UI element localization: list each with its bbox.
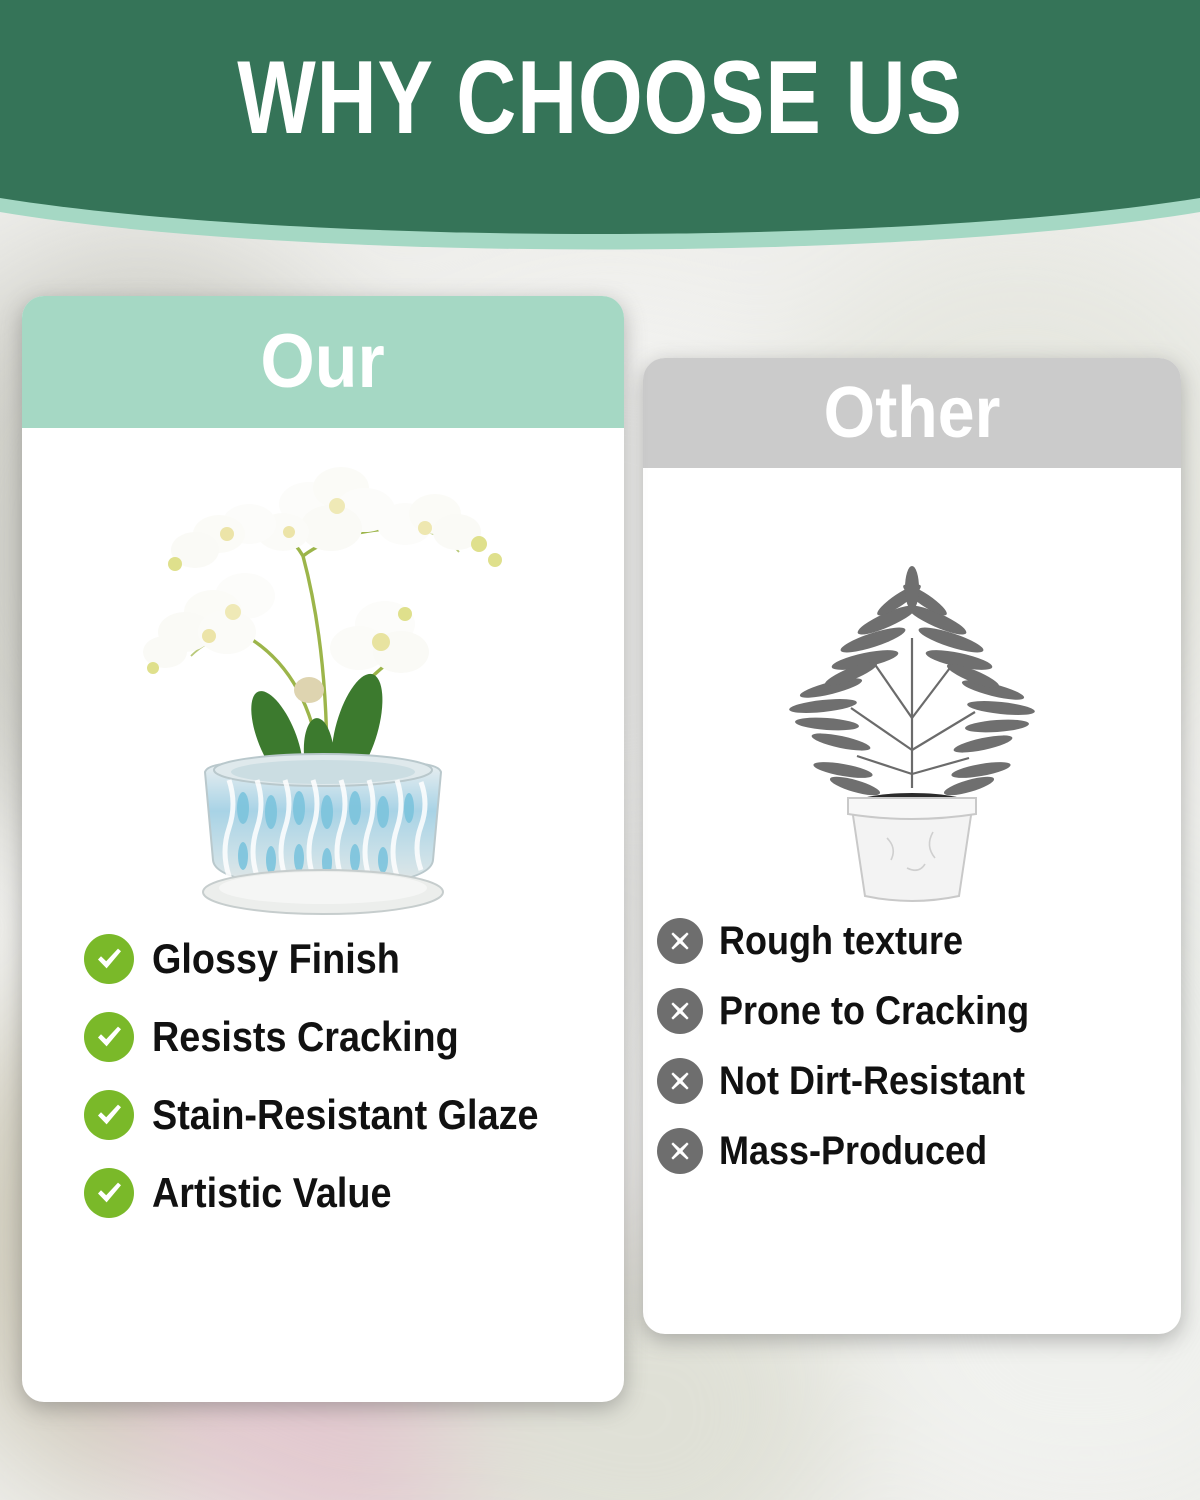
card-header-our-label: Our <box>261 324 385 400</box>
cross-circle-icon <box>657 918 703 964</box>
check-circle-icon <box>84 1168 134 1218</box>
list-item: Rough texture <box>657 918 1181 964</box>
list-item: Glossy Finish <box>84 934 624 984</box>
product-image-our <box>22 428 624 928</box>
header-banner: WHY CHOOSE US <box>0 0 1200 262</box>
feature-label: Prone to Cracking <box>719 990 1029 1032</box>
feature-list-other: Rough texture Prone to Cracking Not Dirt… <box>643 918 1181 1174</box>
product-image-other <box>643 468 1181 908</box>
list-item: Prone to Cracking <box>657 988 1181 1034</box>
feature-label: Rough texture <box>719 920 963 962</box>
check-circle-icon <box>84 934 134 984</box>
feature-label: Stain-Resistant Glaze <box>152 1093 539 1137</box>
check-circle-icon <box>84 1090 134 1140</box>
page-title: WHY CHOOSE US <box>120 46 1080 150</box>
feature-label: Mass-Produced <box>719 1130 987 1172</box>
card-header-other-label: Other <box>824 377 1001 449</box>
feature-label: Glossy Finish <box>152 937 400 981</box>
cross-circle-icon <box>657 1058 703 1104</box>
feature-label: Artistic Value <box>152 1171 391 1215</box>
orchid-illustration <box>22 428 624 928</box>
list-item: Mass-Produced <box>657 1128 1181 1174</box>
list-item: Artistic Value <box>84 1168 624 1218</box>
list-item: Resists Cracking <box>84 1012 624 1062</box>
check-circle-icon <box>84 1012 134 1062</box>
feature-label: Resists Cracking <box>152 1015 459 1059</box>
feature-label: Not Dirt-Resistant <box>719 1060 1025 1102</box>
infographic-page: WHY CHOOSE US Other <box>0 0 1200 1500</box>
cross-circle-icon <box>657 1128 703 1174</box>
feature-list-our: Glossy Finish Resists Cracking Stain-Res… <box>22 934 624 1218</box>
card-header-our: Our <box>22 296 624 428</box>
comparison-card-our: Our <box>22 296 624 1402</box>
palm-plant-illustration <box>643 468 1181 908</box>
list-item: Stain-Resistant Glaze <box>84 1090 624 1140</box>
list-item: Not Dirt-Resistant <box>657 1058 1181 1104</box>
cross-circle-icon <box>657 988 703 1034</box>
card-header-other: Other <box>643 358 1181 468</box>
comparison-card-other: Other <box>643 358 1181 1334</box>
